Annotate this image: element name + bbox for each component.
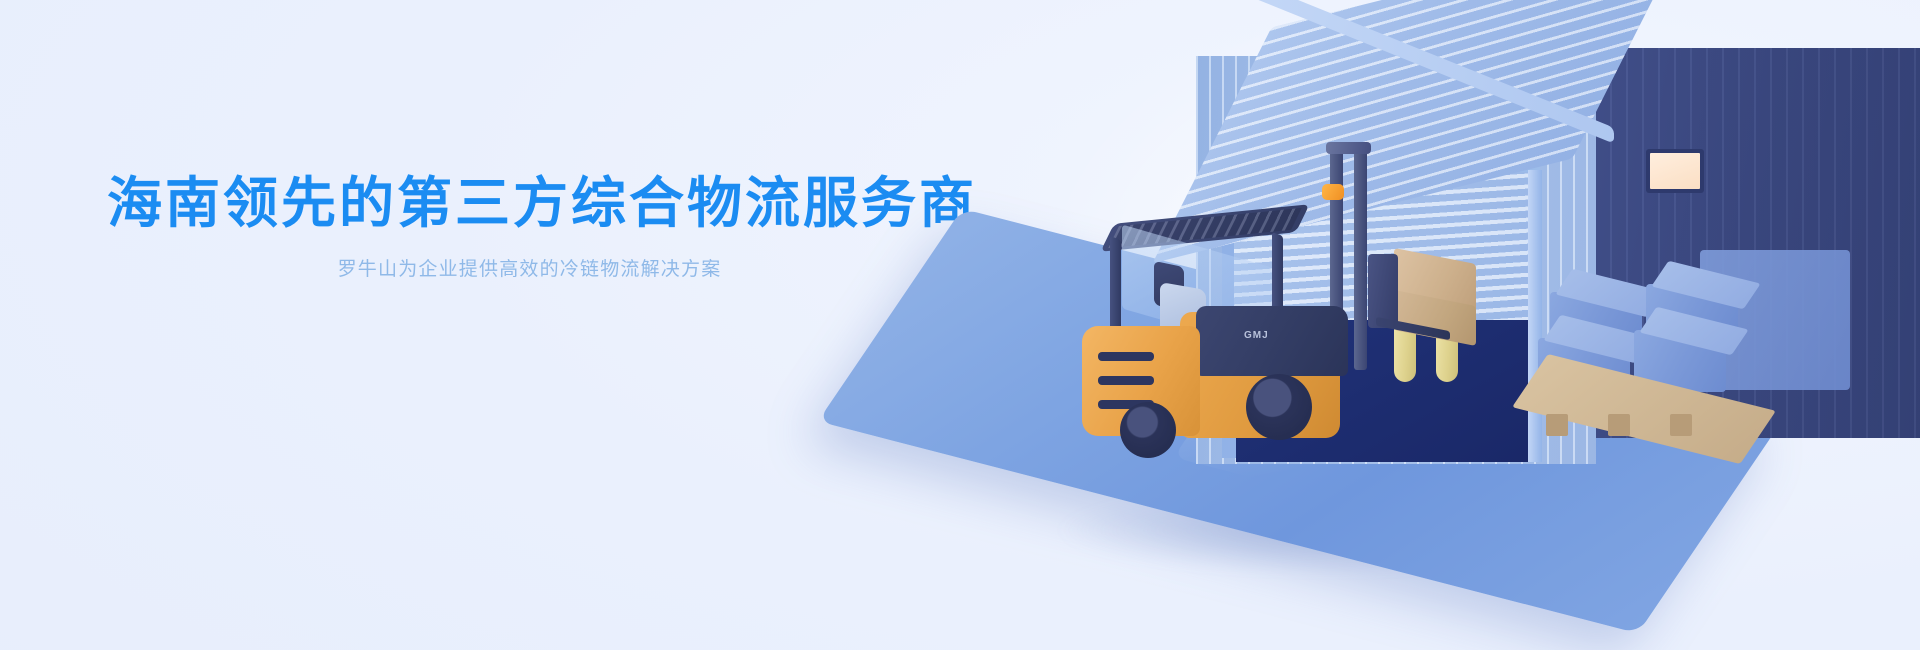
forklift-wheel xyxy=(1120,402,1176,458)
pallet-leg xyxy=(1546,414,1568,436)
pallet-stack xyxy=(1530,286,1830,466)
warehouse-window xyxy=(1646,149,1704,193)
forklift-wheel xyxy=(1246,374,1312,440)
page-title: 海南领先的第三方综合物流服务商 xyxy=(107,172,952,236)
forklift-vent xyxy=(1098,376,1154,385)
forklift-badge: GMJ xyxy=(1244,330,1269,341)
page-subtitle: 罗牛山为企业提供高效的冷链物流解决方案 xyxy=(107,256,952,285)
forklift-engine-hood xyxy=(1196,306,1348,376)
forklift-vent xyxy=(1098,352,1154,361)
forklift-beacon-lamp xyxy=(1322,184,1344,200)
forklift: GMJ xyxy=(1076,220,1406,480)
pallet-leg xyxy=(1608,414,1630,436)
hero-banner: 海南领先的第三方综合物流服务商 罗牛山为企业提供高效的冷链物流解决方案 xyxy=(0,0,1920,650)
window-light xyxy=(1650,153,1700,189)
forklift-mast-cap xyxy=(1326,142,1371,154)
forklift-mast-rail xyxy=(1354,146,1367,370)
warehouse-illustration: GMJ xyxy=(880,0,1920,650)
hero-copy-block: 海南领先的第三方综合物流服务商 罗牛山为企业提供高效的冷链物流解决方案 xyxy=(107,172,952,284)
pallet-leg xyxy=(1670,414,1692,436)
forklift-carriage xyxy=(1368,254,1398,328)
